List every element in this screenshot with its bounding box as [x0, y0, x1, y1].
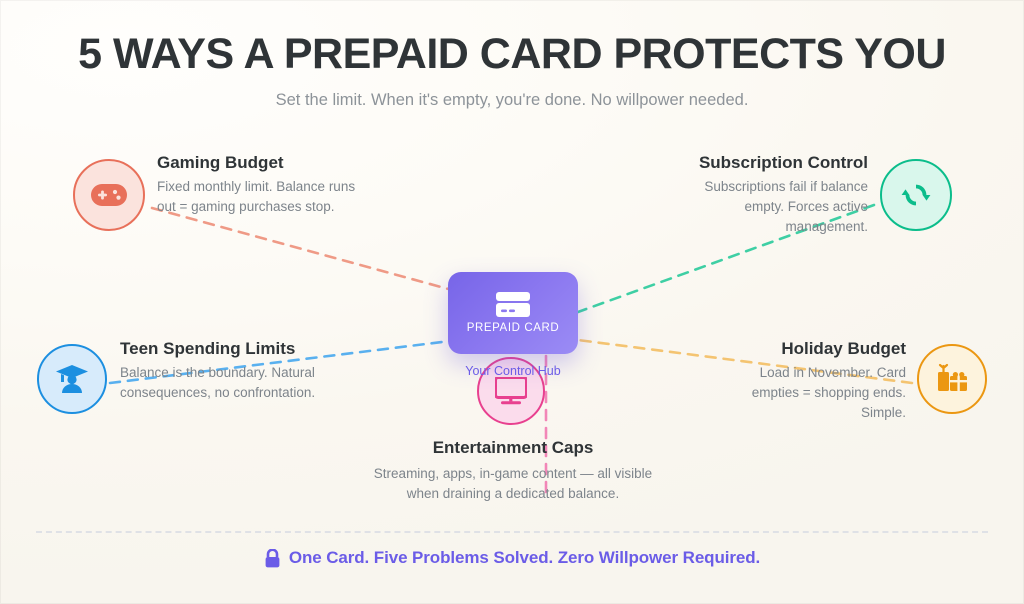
- footer-divider: [36, 531, 988, 533]
- node-icon-teen[interactable]: [37, 344, 107, 414]
- lock-icon: [264, 549, 281, 568]
- node-title-subscription: Subscription Control: [668, 152, 868, 174]
- television-icon: [495, 377, 527, 405]
- refresh-sync-icon: [900, 179, 932, 211]
- node-teen: Teen Spending Limits Balance is the boun…: [120, 338, 320, 403]
- page-subtitle: Set the limit. When it's empty, you're d…: [0, 88, 1024, 112]
- credit-card-icon: [496, 292, 530, 317]
- gift-boxes-icon: [935, 363, 969, 395]
- footer-text: One Card. Five Problems Solved. Zero Wil…: [289, 548, 760, 568]
- connector-gaming: [152, 208, 452, 290]
- node-holiday: Holiday Budget Load in November. Card em…: [716, 338, 906, 423]
- footer-banner: One Card. Five Problems Solved. Zero Wil…: [0, 548, 1024, 568]
- gamepad-icon: [91, 183, 127, 207]
- node-body-gaming: Fixed monthly limit. Balance runs out = …: [157, 177, 357, 217]
- page-title: 5 WAYS A PREPAID CARD PROTECTS YOU: [0, 28, 1024, 80]
- prepaid-card-hub[interactable]: PREPAID CARD: [448, 272, 578, 354]
- node-title-gaming: Gaming Budget: [157, 152, 357, 174]
- node-icon-holiday[interactable]: [917, 344, 987, 414]
- node-subscription: Subscription Control Subscriptions fail …: [668, 152, 868, 237]
- node-icon-subscription[interactable]: [880, 159, 952, 231]
- node-title-teen: Teen Spending Limits: [120, 338, 320, 360]
- node-body-entertainment: Streaming, apps, in-game content — all v…: [358, 464, 668, 504]
- node-body-teen: Balance is the boundary. Natural consequ…: [120, 363, 320, 403]
- node-entertainment: Entertainment Caps Streaming, apps, in-g…: [358, 437, 668, 504]
- graduate-student-icon: [55, 363, 89, 395]
- node-gaming: Gaming Budget Fixed monthly limit. Balan…: [157, 152, 357, 217]
- node-title-entertainment: Entertainment Caps: [358, 437, 668, 459]
- node-title-holiday: Holiday Budget: [716, 338, 906, 360]
- infographic-canvas: 5 WAYS A PREPAID CARD PROTECTS YOU Set t…: [0, 0, 1024, 604]
- node-body-subscription: Subscriptions fail if balance empty. For…: [668, 177, 868, 237]
- control-hub-label: Your Control Hub: [413, 364, 613, 378]
- prepaid-card-label: PREPAID CARD: [467, 322, 560, 334]
- node-icon-gaming[interactable]: [73, 159, 145, 231]
- node-body-holiday: Load in November. Card empties = shoppin…: [716, 363, 906, 423]
